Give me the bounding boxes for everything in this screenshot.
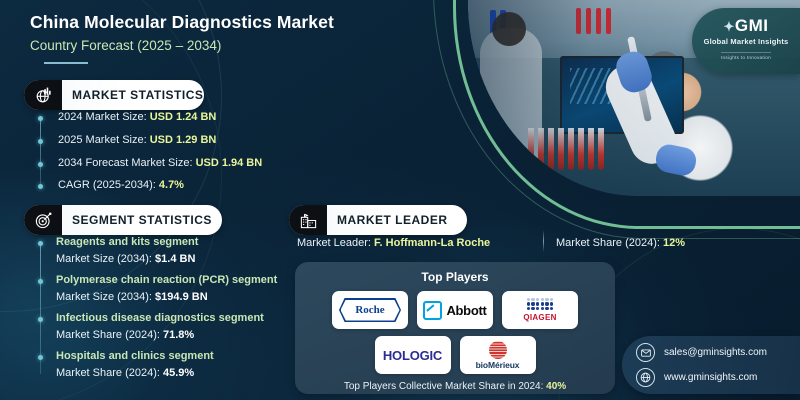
contact-email: sales@gminsights.com [664, 347, 767, 358]
title-divider [44, 62, 88, 64]
segment-statistics-badge-label: SEGMENT STATISTICS [62, 213, 228, 227]
market-stats-bullet [38, 184, 43, 189]
logo-hologic-text: HOLOGIC [383, 348, 442, 363]
market-stat-value: USD 1.24 BN [150, 111, 217, 123]
top-players-title: Top Players [295, 262, 615, 284]
gmi-logo-mark: ✦GMI [692, 17, 800, 34]
page-title: China Molecular Diagnostics Market [30, 12, 334, 33]
market-leader-value: F. Hoffmann-La Roche [374, 237, 490, 249]
top-players-footer-value: 40% [546, 381, 566, 392]
segment-stats-bullet [38, 279, 43, 284]
market-leader-badge-label: MARKET LEADER [327, 213, 464, 227]
segment-detail-value: 71.8% [163, 329, 194, 341]
gmi-logo-text: GMI [735, 16, 769, 35]
market-stat-row: CAGR (2025-2034): 4.7% [58, 179, 184, 191]
logo-roche-text: Roche [355, 304, 384, 316]
market-stats-rail [40, 118, 41, 186]
market-stat-label: CAGR (2025-2034): [58, 179, 159, 191]
market-stats-bullet [38, 139, 43, 144]
top-players-footer-label: Top Players Collective Market Share in 2… [344, 381, 546, 392]
segment-detail: Market Share (2024): 71.8% [56, 329, 194, 341]
segment-heading: Hospitals and clinics segment [56, 350, 214, 362]
market-leader-label: Market Leader: [297, 237, 374, 249]
factory-building-icon [289, 205, 327, 235]
gmi-logo[interactable]: ✦GMI Global Market Insights Insights to … [692, 8, 800, 74]
segment-detail-label: Market Share (2024): [56, 367, 163, 379]
top-players-logo-row-2: HOLOGIC bioMérieux [295, 336, 615, 374]
market-leader-share-value: 12% [663, 237, 685, 249]
envelope-icon [636, 343, 655, 362]
market-stat-row: 2034 Forecast Market Size: USD 1.94 BN [58, 157, 262, 169]
market-leader-share-label: Market Share (2024): [556, 237, 663, 249]
biomerieux-sphere-icon [489, 341, 507, 359]
market-leader-badge[interactable]: MARKET LEADER [289, 205, 467, 235]
market-leader-divider [543, 230, 544, 252]
qiagen-dots-icon: QIAGEN [523, 298, 556, 322]
segment-detail-label: Market Size (2034): [56, 253, 155, 265]
contact-website: www.gminsights.com [664, 372, 757, 383]
market-stat-row: 2024 Market Size: USD 1.24 BN [58, 111, 216, 123]
market-stats-bullet [38, 162, 43, 167]
segment-heading: Reagents and kits segment [56, 236, 198, 248]
globe-icon [636, 368, 655, 387]
market-statistics-badge[interactable]: MARKET STATISTICS [24, 80, 204, 110]
segment-heading: Infectious disease diagnostics segment [56, 312, 264, 324]
abbott-mark-icon [423, 301, 442, 320]
logo-qiagen-text: QIAGEN [523, 313, 556, 322]
infographic-canvas: ✦GMI Global Market Insights Insights to … [0, 0, 800, 400]
top-players-footer: Top Players Collective Market Share in 2… [295, 381, 615, 392]
roche-hexagon-icon: Roche [339, 298, 401, 322]
gmi-spark-icon: ✦ [723, 19, 734, 34]
segment-detail-value: 45.9% [163, 367, 194, 379]
market-stat-value: USD 1.94 BN [196, 157, 263, 169]
segment-detail: Market Share (2024): 45.9% [56, 367, 194, 379]
contact-email-row[interactable]: sales@gminsights.com [636, 343, 800, 362]
segment-detail-label: Market Share (2024): [56, 329, 163, 341]
segment-statistics-badge[interactable]: SEGMENT STATISTICS [24, 205, 222, 235]
logo-biomerieux[interactable]: bioMérieux [460, 336, 536, 374]
target-icon [24, 205, 62, 235]
market-stat-value: USD 1.29 BN [150, 134, 217, 146]
segment-stats-bullet [38, 241, 43, 246]
page-subtitle: Country Forecast (2025 – 2034) [30, 38, 221, 53]
market-stat-label: 2024 Market Size: [58, 111, 150, 123]
logo-abbott-text: Abbott [446, 303, 486, 318]
segment-detail-label: Market Size (2034): [56, 291, 155, 303]
segment-detail: Market Size (2034): $194.9 BN [56, 291, 208, 303]
segment-detail: Market Size (2034): $1.4 BN [56, 253, 195, 265]
top-players-panel: Top Players Roche Abbott QIAGEN [295, 262, 615, 394]
gmi-logo-fullname: Global Market Insights [692, 37, 800, 46]
top-players-logo-row-1: Roche Abbott QIAGEN [295, 291, 615, 329]
biomerieux-mark-icon: bioMérieux [476, 341, 520, 370]
segment-stats-bullet [38, 355, 43, 360]
market-leader-name-row: Market Leader: F. Hoffmann-La Roche [297, 237, 490, 249]
gmi-logo-tagline: Insights to Innovation [721, 52, 771, 60]
market-stat-row: 2025 Market Size: USD 1.29 BN [58, 134, 216, 146]
market-statistics-badge-label: MARKET STATISTICS [62, 88, 219, 102]
segment-stats-bullet [38, 317, 43, 322]
logo-biomerieux-text: bioMérieux [476, 360, 520, 370]
contact-card: sales@gminsights.com www.gminsights.com [622, 336, 800, 394]
market-stat-label: 2034 Forecast Market Size: [58, 157, 196, 169]
market-leader-share-row: Market Share (2024): 12% [556, 237, 685, 249]
logo-hologic[interactable]: HOLOGIC [375, 336, 451, 374]
segment-detail-value: $194.9 BN [155, 291, 208, 303]
contact-website-row[interactable]: www.gminsights.com [636, 368, 800, 387]
logo-abbott[interactable]: Abbott [417, 291, 493, 329]
segment-heading: Polymerase chain reaction (PCR) segment [56, 274, 277, 286]
market-stats-bullet [38, 116, 43, 121]
market-stat-value: 4.7% [159, 179, 184, 191]
market-stat-label: 2025 Market Size: [58, 134, 150, 146]
logo-roche[interactable]: Roche [332, 291, 408, 329]
globe-chart-icon [24, 80, 62, 110]
logo-qiagen[interactable]: QIAGEN [502, 291, 578, 329]
segment-detail-value: $1.4 BN [155, 253, 195, 265]
